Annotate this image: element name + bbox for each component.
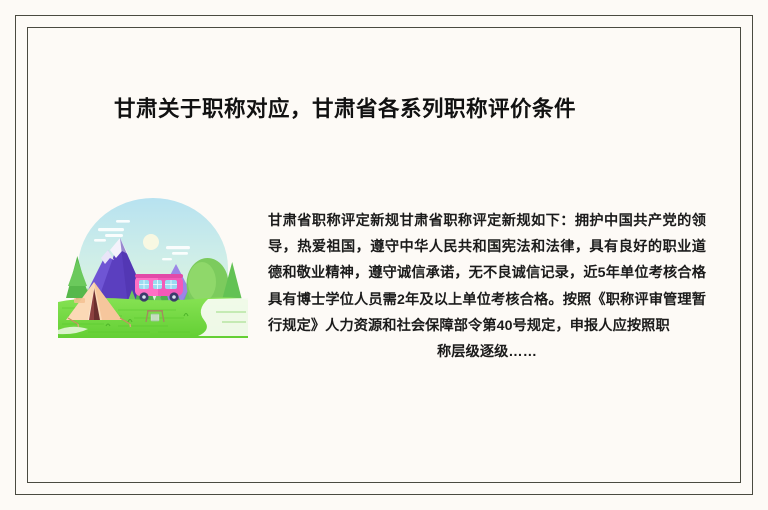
page-root: 甘肃关于职称对应，甘肃省各系列职称评价条件 (0, 0, 768, 510)
article-body-text: 甘肃省职称评定新规甘肃省职称评定新规如下：拥护中国共产党的领导，热爱祖国，遵守中… (268, 213, 706, 334)
article-body-last-line: 称层级逐级…… (268, 339, 706, 365)
camping-scene-illustration (58, 198, 248, 338)
article-body: 甘肃省职称评定新规甘肃省职称评定新规如下：拥护中国共产党的领导，热爱祖国，遵守中… (268, 208, 706, 365)
page-title: 甘肃关于职称对应，甘肃省各系列职称评价条件 (114, 92, 576, 123)
